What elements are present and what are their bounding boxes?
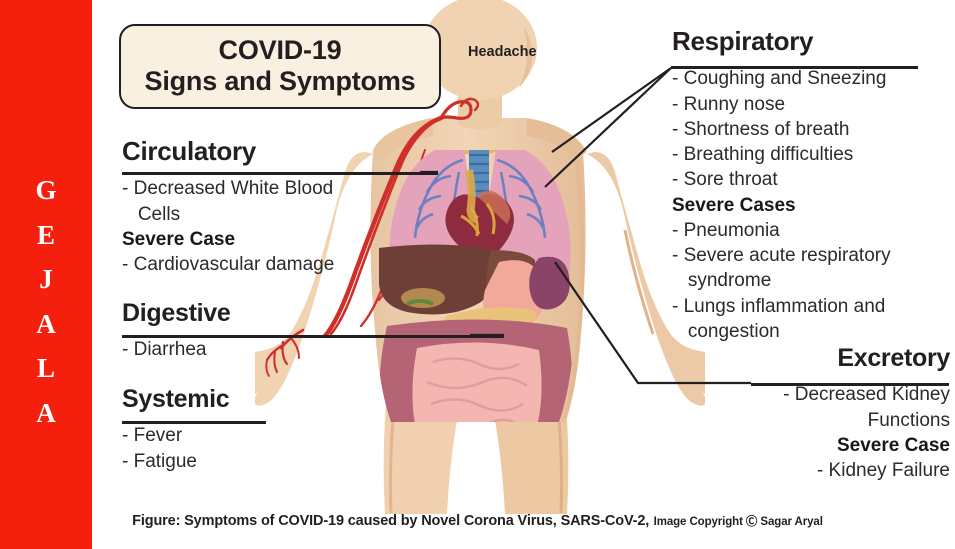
excretory-heading: Excretory [752, 345, 950, 371]
title-line-1: COVID-19 [219, 36, 342, 66]
list-item: - Kidney Failure [752, 458, 950, 483]
list-item: - Decreased Kidney [752, 382, 950, 407]
list-item: Severe Case [752, 433, 950, 458]
list-item: - Breathing difficulties [672, 142, 950, 167]
band-letter: G [35, 168, 56, 213]
arm-shading [625, 230, 653, 334]
list-item: Functions [752, 408, 950, 433]
list-item: - Cardiovascular damage [122, 252, 432, 277]
bladder [459, 459, 497, 500]
section-circulatory: Circulatory - Decreased White Blood Cell… [122, 138, 432, 277]
list-item: - Sore throat [672, 167, 950, 192]
list-item: - Lungs inflammation and [672, 294, 950, 319]
list-item: syndrome [672, 268, 950, 293]
list-item: Cells [122, 202, 432, 227]
list-item: - Coughing and Sneezing [672, 66, 950, 91]
infographic-canvas: G E J A L A [0, 0, 955, 549]
circulatory-list: - Decreased White Blood Cells Severe Cas… [122, 176, 432, 277]
band-letter: L [37, 346, 55, 391]
digestive-heading: Digestive [122, 300, 422, 326]
digestive-list: - Diarrhea [122, 337, 422, 362]
list-item: Severe Case [122, 227, 432, 252]
excretory-list: - Decreased Kidney Functions Severe Case… [752, 382, 950, 483]
list-item: - Runny nose [672, 92, 950, 117]
rectum [457, 450, 497, 476]
circulatory-heading: Circulatory [122, 138, 432, 165]
band-letter: A [36, 302, 56, 347]
spleen [529, 257, 570, 310]
figure-caption: Figure: Symptoms of COVID-19 caused by N… [0, 512, 955, 530]
band-letter: A [36, 391, 56, 436]
list-item: Severe Cases [672, 193, 950, 218]
gejala-vertical-text: G E J A L A [0, 168, 92, 435]
list-item: - Diarrhea [122, 337, 422, 362]
list-item: - Decreased White Blood [122, 176, 432, 201]
list-item: - Fever [122, 423, 292, 448]
caption-copyright: Image Copyright Ⓒ Sagar Aryal [654, 516, 823, 528]
list-item: - Pneumonia [672, 218, 950, 243]
headache-label: Headache [468, 44, 537, 60]
systemic-heading: Systemic [122, 386, 292, 412]
section-excretory: Excretory - Decreased Kidney Functions S… [752, 345, 950, 483]
list-item: congestion [672, 319, 950, 344]
section-systemic: Systemic - Fever - Fatigue [122, 386, 292, 474]
title-card: COVID-19 Signs and Symptoms [119, 24, 441, 109]
section-respiratory: Respiratory - Coughing and Sneezing - Ru… [672, 28, 950, 344]
band-letter: J [39, 257, 53, 302]
left-red-band: G E J A L A [0, 0, 92, 549]
list-item: - Fatigue [122, 449, 292, 474]
list-item: - Severe acute respiratory [672, 243, 950, 268]
band-letter: E [37, 213, 55, 258]
systemic-list: - Fever - Fatigue [122, 423, 292, 474]
list-item: - Shortness of breath [672, 117, 950, 142]
appendix [452, 452, 459, 476]
respiratory-heading: Respiratory [672, 28, 950, 55]
respiratory-list: - Coughing and Sneezing - Runny nose - S… [672, 66, 950, 344]
section-digestive: Digestive - Diarrhea [122, 300, 422, 363]
title-line-2: Signs and Symptoms [145, 66, 416, 97]
caption-main: Figure: Symptoms of COVID-19 caused by N… [132, 513, 649, 529]
